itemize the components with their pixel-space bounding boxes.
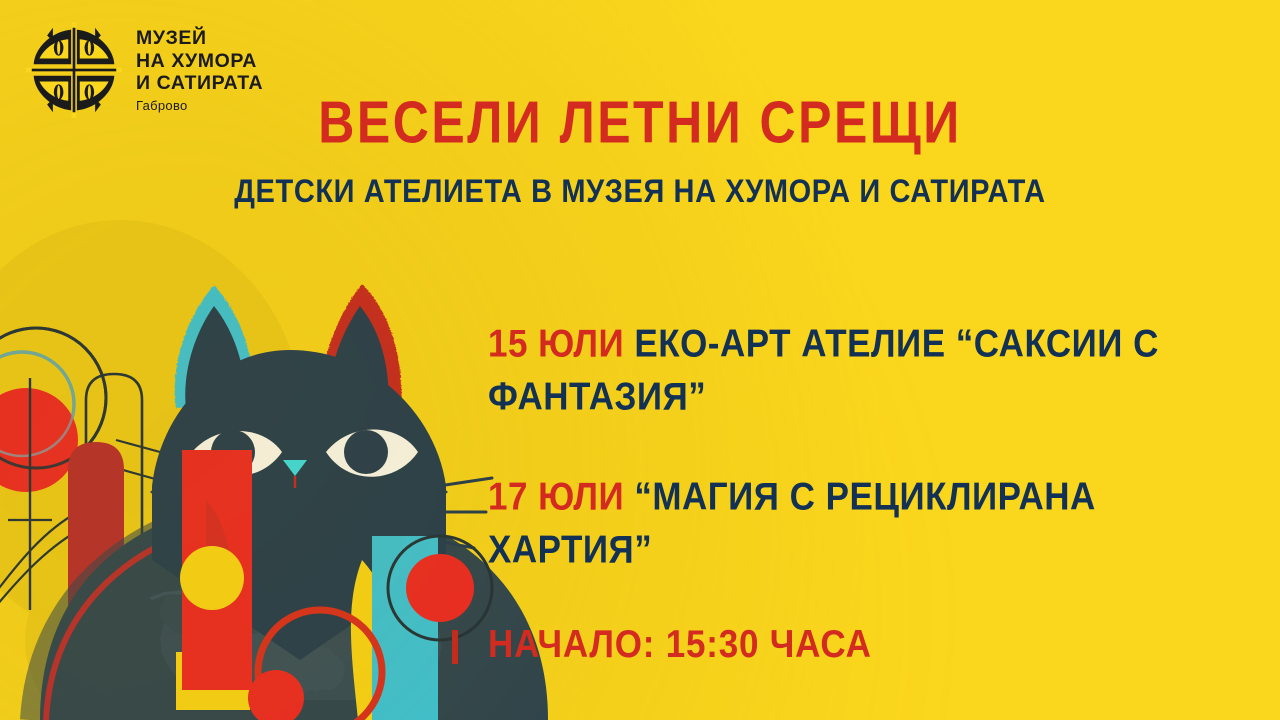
red-circle-with-ring [406, 554, 474, 622]
logo-line-3: И САТИРАТА [136, 72, 263, 95]
poster-canvas: МУЗЕЙ НА ХУМОРА И САТИРАТА Габрово ВЕСЕЛ… [0, 0, 1280, 720]
yellow-dot [180, 546, 244, 610]
logo-line-2: НА ХУМОРА [136, 50, 263, 73]
red-tick [452, 630, 458, 664]
start-time: НАЧАЛО: 15:30 ЧАСА [488, 623, 1268, 667]
poster-subtitle: ДЕТСКИ АТЕЛИЕТА В МУЗЕЯ НА ХУМОРА И САТИ… [0, 176, 1280, 208]
poster-title: ВЕСЕЛИ ЛЕТНИ СРЕЩИ [0, 93, 1280, 152]
event-item-1: 15 ЮЛИ ЕКО-АРТ АТЕЛИЕ “САКСИИ С ФАНТАЗИЯ… [488, 318, 1268, 424]
event-item-2: 17 ЮЛИ “МАГИЯ С РЕЦИКЛИРАНА ХАРТИЯ” [488, 471, 1268, 577]
event-1-date: 15 ЮЛИ [488, 322, 624, 365]
event-2-date: 17 ЮЛИ [488, 475, 624, 518]
logo-line-1: МУЗЕЙ [136, 27, 263, 50]
events-list: 15 ЮЛИ ЕКО-АРТ АТЕЛИЕ “САКСИИ С ФАНТАЗИЯ… [488, 318, 1268, 663]
